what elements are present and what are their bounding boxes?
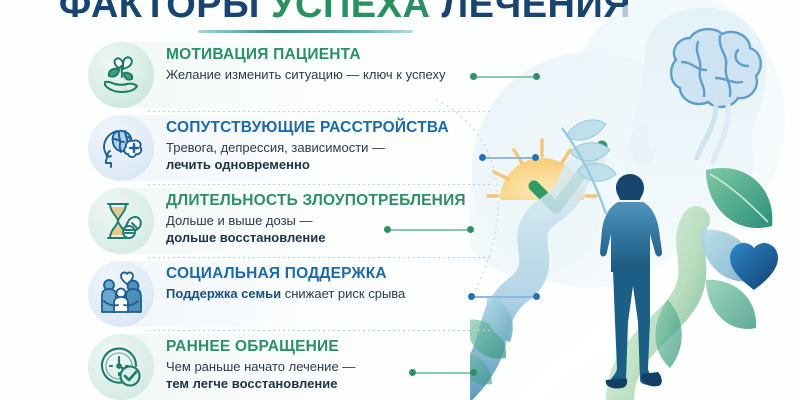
brain-icon bbox=[671, 29, 761, 107]
connector-line bbox=[384, 226, 474, 233]
clock-check-icon bbox=[88, 334, 154, 400]
list-item-title: МОТИВАЦИЯ ПАЦИЕНТА bbox=[166, 46, 520, 63]
head-brain-plus-icon bbox=[88, 115, 154, 181]
list-item-subtitle: Тревога, депрессия, зависимости — лечить… bbox=[166, 140, 520, 173]
connector-line bbox=[479, 154, 539, 161]
title-part-1: ФАКТОРЫ bbox=[59, 0, 260, 26]
list-item-subtitle: Поддержка семьи снижает риск срыва bbox=[166, 286, 520, 303]
infographic-canvas: ФАКТОРЫ УСПЕХА ЛЕЧЕНИЯ bbox=[0, 0, 800, 400]
connector-line bbox=[470, 73, 540, 80]
list-item-title: СОЦИАЛЬНАЯ ПОДДЕРЖКА bbox=[166, 265, 520, 282]
heart-icon bbox=[730, 243, 778, 290]
connector-line bbox=[468, 293, 540, 300]
family-heart-icon bbox=[88, 261, 154, 327]
hand-holding-plant-heart-icon bbox=[88, 42, 154, 108]
title-part-2: УСПЕХА bbox=[271, 0, 431, 26]
list-item-title: СОПУТСТВУЮЩИЕ РАССТРОЙСТВА bbox=[166, 119, 520, 136]
title-divider bbox=[198, 30, 413, 33]
list-item-title: РАННЕЕ ОБРАЩЕНИЕ bbox=[166, 338, 520, 355]
hourglass-pill-icon bbox=[88, 188, 154, 254]
list-item[interactable]: РАННЕЕ ОБРАЩЕНИЕ Чем раньше начато лечен… bbox=[0, 330, 520, 400]
list-item-title: ДЛИТЕЛЬНОСТЬ ЗЛОУПОТРЕБЛЕНИЯ bbox=[166, 192, 520, 209]
row-separator bbox=[148, 330, 490, 331]
list-item-subtitle: Желание изменить ситуацию — ключ к успех… bbox=[166, 67, 520, 84]
connector-line bbox=[409, 369, 477, 376]
